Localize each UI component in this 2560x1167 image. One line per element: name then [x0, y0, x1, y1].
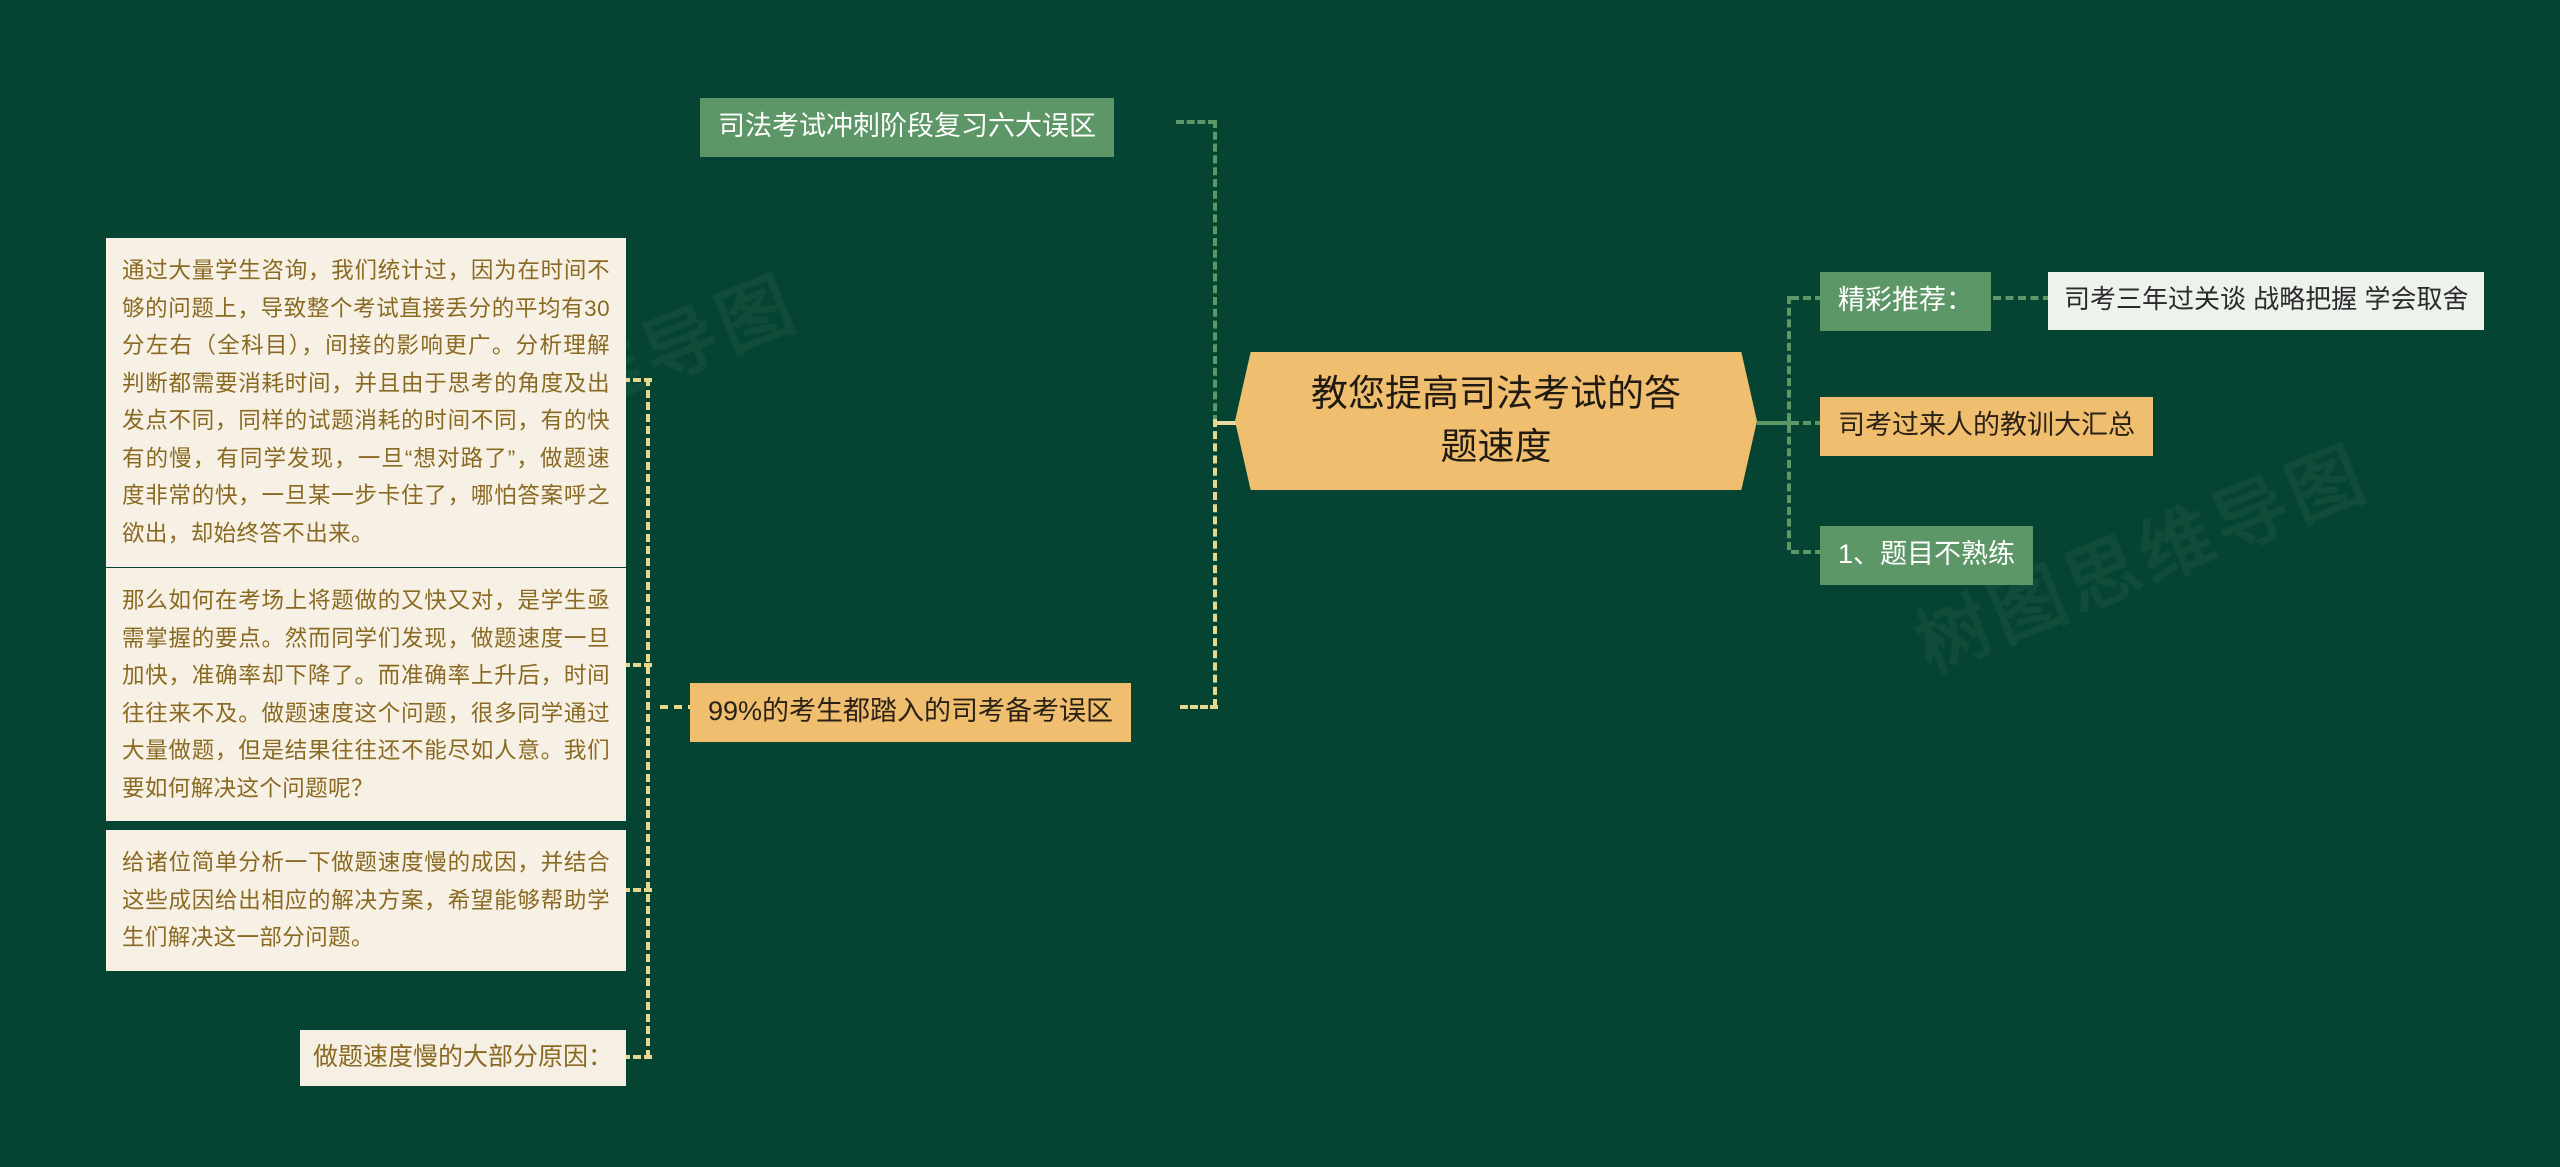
- connector-left-mid-branch: [1180, 705, 1218, 709]
- paragraph-block-2[interactable]: 那么如何在考场上将题做的又快又对，是学生亟需掌握的要点。然而同学们发现，做题速度…: [106, 568, 626, 821]
- node-recommend-item[interactable]: 司考三年过关谈 战略把握 学会取舍: [2048, 272, 2484, 330]
- node-lessons[interactable]: 司考过来人的教训大汇总: [1820, 397, 2153, 456]
- mindmap-canvas: 树图思维导图 树图思维导图 教您提高司法考试的答题速度 司法考试冲刺阶段复习六大…: [0, 0, 2560, 1167]
- connector-right-branch-2: [1791, 421, 1823, 425]
- node-reason-1-label: 1、题目不熟练: [1838, 535, 2015, 574]
- node-lessons-label: 司考过来人的教训大汇总: [1838, 406, 2135, 445]
- paragraph-1-text: 通过大量学生咨询，我们统计过，因为在时间不够的问题上，导致整个考试直接丢分的平均…: [122, 258, 610, 546]
- node-left-top[interactable]: 司法考试冲刺阶段复习六大误区: [700, 98, 1114, 157]
- connector-right-branch-1: [1791, 296, 1823, 300]
- node-recommend-label-text: 精彩推荐：: [1838, 281, 1973, 320]
- connector-left-spine-lower: [1213, 419, 1217, 707]
- connector-child-2: [622, 663, 652, 667]
- paragraph-block-3[interactable]: 给诸位简单分析一下做题速度慢的成因，并结合这些成因给出相应的解决方案，希望能够帮…: [106, 830, 626, 971]
- connector-recommend-item: [1993, 296, 2051, 300]
- node-reasons-label: 做题速度慢的大部分原因：: [313, 1039, 613, 1075]
- node-left-mid[interactable]: 99%的考生都踏入的司考备考误区: [690, 683, 1131, 742]
- connector-left-spine-upper: [1213, 120, 1217, 423]
- node-left-top-label: 司法考试冲刺阶段复习六大误区: [718, 107, 1096, 146]
- connector-child-4: [622, 1055, 652, 1059]
- paragraph-block-1[interactable]: 通过大量学生咨询，我们统计过，因为在时间不够的问题上，导致整个考试直接丢分的平均…: [106, 238, 626, 567]
- connector-left-children-spine: [646, 378, 650, 1058]
- node-recommend-label[interactable]: 精彩推荐：: [1820, 272, 1991, 331]
- connector-child-3: [622, 888, 652, 892]
- paragraph-3-text: 给诸位简单分析一下做题速度慢的成因，并结合这些成因给出相应的解决方案，希望能够帮…: [122, 850, 610, 950]
- connector-child-1: [622, 378, 652, 382]
- connector-right-branch-3: [1791, 550, 1823, 554]
- node-left-mid-label: 99%的考生都踏入的司考备考误区: [708, 692, 1113, 731]
- paragraph-2-text: 那么如何在考场上将题做的又快又对，是学生亟需掌握的要点。然而同学们发现，做题速度…: [122, 588, 610, 801]
- connector-left-top-branch: [1176, 120, 1216, 124]
- node-reasons[interactable]: 做题速度慢的大部分原因：: [300, 1030, 626, 1086]
- node-reason-1[interactable]: 1、题目不熟练: [1820, 526, 2033, 585]
- node-recommend-item-text: 司考三年过关谈 战略把握 学会取舍: [2064, 281, 2468, 319]
- center-node[interactable]: 教您提高司法考试的答题速度: [1235, 352, 1757, 490]
- center-node-label: 教您提高司法考试的答题速度: [1295, 368, 1697, 473]
